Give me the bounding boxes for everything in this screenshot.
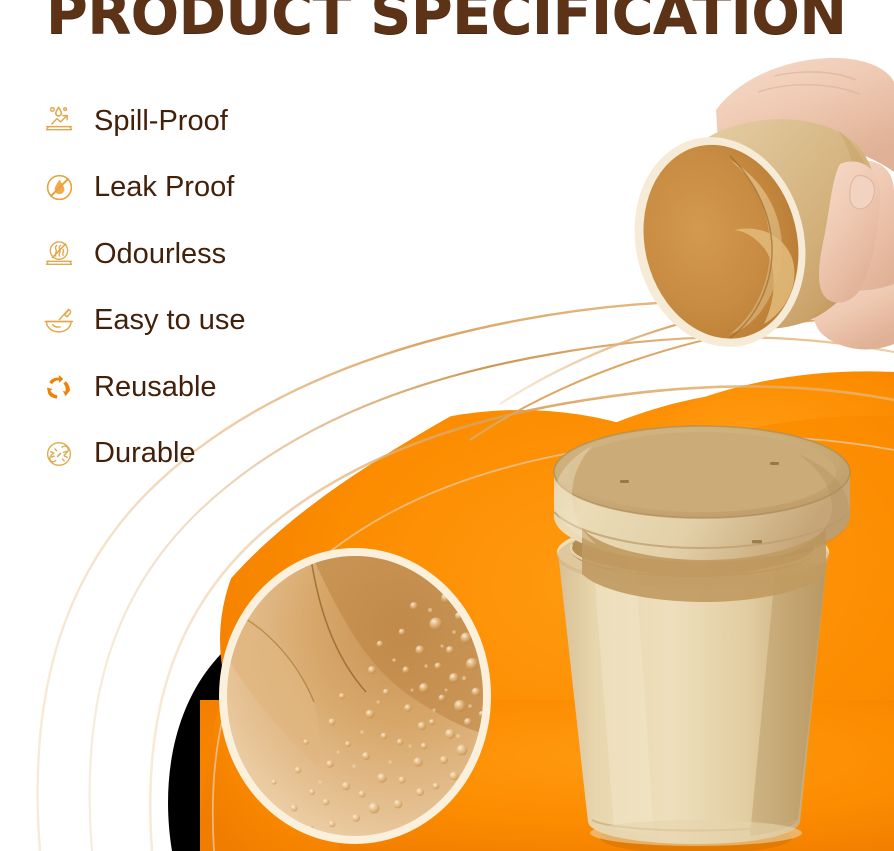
feature-item-reusable: Reusable (38, 354, 368, 421)
no-leak-drop-icon (38, 167, 80, 209)
bowl-spoon-icon (38, 300, 80, 342)
feature-label: Reusable (94, 373, 217, 402)
feature-item-durable: Durable (38, 421, 368, 488)
feature-label: Leak Proof (94, 173, 234, 202)
page-title: PRODUCT SPECIFICATION (46, 0, 847, 43)
feature-item-leak-proof: Leak Proof (38, 155, 368, 222)
cup-base-rim (590, 820, 802, 846)
unbreakable-chain-icon (38, 433, 80, 475)
feature-list: Spill-Proof Leak Proof (38, 88, 368, 487)
recycle-icon (38, 366, 80, 408)
lid-vent-right (770, 462, 779, 465)
hand-holding-kraft-cup-photo (588, 52, 894, 382)
feature-label: Spill-Proof (94, 107, 228, 136)
kraft-soup-container-with-lid-photo (536, 424, 866, 851)
lid-vent-left (620, 480, 629, 483)
feature-item-spill-proof: Spill-Proof (38, 88, 368, 155)
lid-skirt-vent (752, 540, 762, 543)
feature-item-odourless: Odourless (38, 221, 368, 288)
lid-top-inner (568, 432, 836, 512)
feature-item-easy-to-use: Easy to use (38, 288, 368, 355)
water-repellent-icon (38, 100, 80, 142)
feature-label: Durable (94, 439, 196, 468)
lid-group (554, 426, 850, 602)
water-droplet-surface-detail-inset (214, 546, 496, 846)
feature-label: Odourless (94, 240, 226, 269)
no-odour-icon (38, 233, 80, 275)
infographic-canvas: PRODUCT SPECIFICATION Spill-Proof (0, 0, 894, 851)
feature-label: Easy to use (94, 306, 246, 335)
